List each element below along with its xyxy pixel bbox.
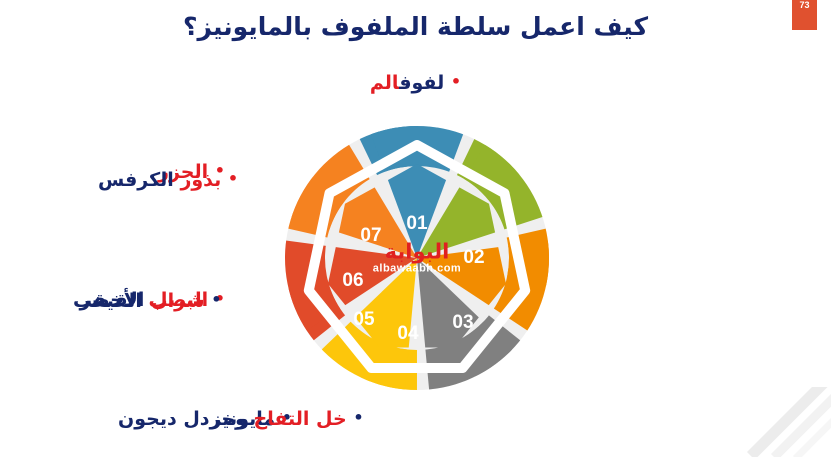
- label-maple-syrup: • شراب القيقب: [73, 290, 221, 312]
- label-vinegar-mustard: • خل التفاح وخردل ديجون: [118, 408, 364, 430]
- label-cabbage-text-red: الم: [370, 72, 399, 94]
- label-celery-seeds: • بذور الكرفس: [98, 169, 238, 191]
- label-cabbage-text-navy: لفوف: [399, 72, 444, 94]
- corner-badge: 73: [792, 0, 817, 30]
- label-vinegar-mustard-text-navy: وخردل ديجون: [118, 408, 254, 430]
- label-celery-seeds-text-navy: الكرفس: [98, 169, 180, 191]
- bullet-icon-cabbage: •: [451, 72, 461, 91]
- bullet-icon-celery-seeds: •: [228, 169, 238, 188]
- segment-number-01: 01: [406, 213, 428, 234]
- corner-badge-number: 73: [792, 0, 817, 10]
- bullet-icon-vinegar-mustard: •: [353, 408, 363, 427]
- label-vinegar-mustard-text-red: خل التفاح: [254, 408, 347, 430]
- corner-stripe-decoration: [741, 387, 831, 457]
- segment-number-02: 02: [463, 247, 484, 268]
- bullet-icon-maple-syrup: •: [211, 290, 221, 309]
- ingredient-wheel-diagram: 01 02 03 04 05 06 07 البوابة albawaabh.c…: [282, 123, 552, 393]
- segment-number-03: 03: [452, 312, 473, 333]
- segment-number-05: 05: [353, 309, 375, 330]
- label-cabbage: • لفوفالم: [0, 72, 831, 94]
- segment-number-06: 06: [342, 270, 363, 291]
- segment-number-04: 04: [397, 323, 419, 344]
- segment-number-07: 07: [360, 225, 381, 246]
- label-maple-syrup-text-navy: القيقب: [73, 290, 148, 312]
- label-maple-syrup-text-red: شراب: [148, 290, 204, 312]
- page-title: كيف اعمل سلطة الملفوف بالمايونيز؟: [0, 12, 831, 41]
- label-celery-seeds-text-red: بذور: [180, 169, 221, 191]
